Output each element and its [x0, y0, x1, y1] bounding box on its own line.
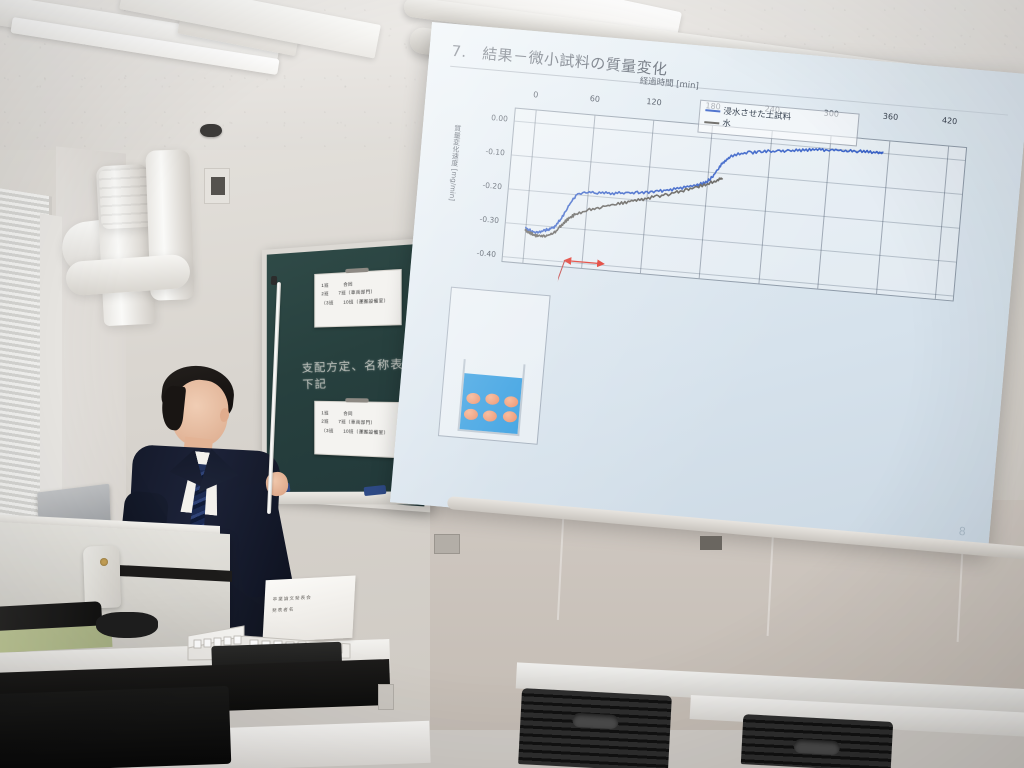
notice-line: （3班 10班（運搬設備室） [321, 427, 394, 438]
mass-change-chart: 経過時間 [min] 質量変化速度 [mg/min] 0601201802403… [444, 65, 1000, 321]
window-mullion [40, 213, 62, 526]
chair-handle-cutout [793, 739, 840, 755]
ventilation-duct-ribs [98, 167, 153, 230]
audience-chair [741, 714, 893, 768]
chart-x-tick-label: 360 [883, 112, 899, 122]
chart-x-tick-label: 120 [646, 97, 662, 107]
coiled-cable [96, 612, 158, 638]
blackboard-notice-top: 1班 合同 2班 7班（車両部門） （3班 10班（運搬設備室） [314, 269, 401, 328]
slide-page-number: 8 [958, 524, 966, 539]
speaker-indicator [100, 558, 108, 566]
legend-swatch-water [704, 122, 719, 125]
speaker-device [83, 545, 121, 608]
panel-slot [211, 177, 225, 195]
magnet-clip [345, 268, 368, 274]
presentation-slide: 7. 結果－微小試料の質量変化 経過時間 [min] 質量変化速度 [mg/mi… [390, 22, 1024, 554]
chart-y-tick-label: 0.00 [476, 112, 509, 124]
projection-screen: 7. 結果－微小試料の質量変化 経過時間 [min] 質量変化速度 [mg/mi… [390, 22, 1024, 554]
chart-y-tick-label: -0.20 [470, 179, 503, 191]
ceiling-sensor-icon [200, 124, 222, 137]
audience-chair [518, 688, 672, 768]
chart-y-tick-label: -0.10 [473, 146, 506, 158]
lecture-room-scene: 1班 合同 2班 7班（車両部門） （3班 10班（運搬設備室） 支配方定、名称… [0, 0, 1024, 768]
chart-x-tick-label: 0 [533, 91, 539, 100]
chart-y-axis-title: 質量変化速度 [mg/min] [447, 124, 464, 201]
chart-series-line [524, 161, 722, 252]
chart-x-tick-label: 60 [589, 94, 600, 104]
wall-control-panel [204, 168, 230, 204]
beaker-callout-box [438, 287, 551, 445]
legend-label-water: 水 [722, 118, 732, 131]
red-annotation-arrow [557, 254, 630, 300]
magnet-clip [345, 398, 368, 403]
chart-x-tick-label: 420 [942, 115, 958, 125]
chart-y-tick-label: -0.30 [467, 213, 500, 225]
beaker-icon [457, 359, 525, 436]
chart-y-tick-label: -0.40 [464, 247, 497, 259]
presenter-ear [219, 407, 230, 422]
wall-outlet [700, 536, 722, 550]
legend-swatch-soil [705, 109, 720, 112]
floor-outlet-box [378, 684, 394, 710]
front-row-chair [0, 686, 231, 768]
chair-handle-cutout [572, 713, 619, 729]
wall-outlet [434, 534, 460, 554]
